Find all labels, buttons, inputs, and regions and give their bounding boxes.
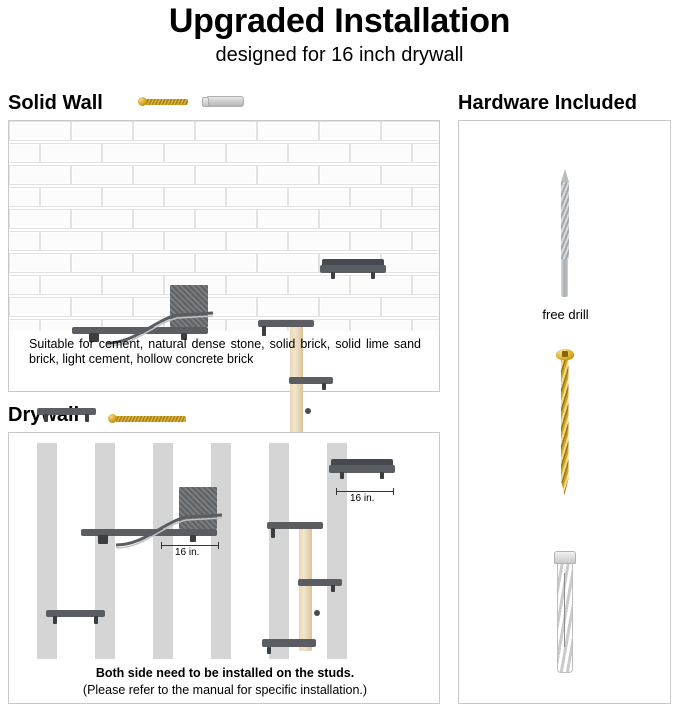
shelf-bracket <box>85 414 89 422</box>
anchor-slit <box>564 573 566 647</box>
brick <box>226 275 288 295</box>
shelf-bracket <box>331 272 335 279</box>
shelf-bracket <box>53 616 57 624</box>
brick <box>164 231 226 251</box>
brick <box>133 209 195 229</box>
brick <box>9 143 40 163</box>
brick <box>350 187 412 207</box>
drywall-caption: Both side need to be installed on the st… <box>23 665 427 699</box>
wood-screw-icon <box>556 349 574 505</box>
brick <box>71 121 133 141</box>
page-subtitle: designed for 16 inch drywall <box>0 44 679 67</box>
cat-ramp <box>114 513 224 549</box>
brick <box>257 165 319 185</box>
brick <box>71 209 133 229</box>
brick <box>412 319 439 331</box>
brick <box>288 231 350 251</box>
wall-stud <box>269 443 289 659</box>
brick <box>319 297 381 317</box>
brick <box>9 275 40 295</box>
brick <box>257 121 319 141</box>
brick <box>350 143 412 163</box>
measure-line <box>161 545 219 546</box>
screw-drive-slot <box>562 351 568 357</box>
brick <box>195 209 257 229</box>
measure-label: 16 in. <box>350 493 374 504</box>
page-title: Upgraded Installation <box>0 2 679 41</box>
wall-shelf <box>320 265 386 273</box>
brick <box>412 187 439 207</box>
wall-stud <box>327 443 347 659</box>
wall-stud <box>211 443 231 659</box>
drill-tip <box>561 169 569 182</box>
measure-label: 16 in. <box>175 547 199 558</box>
brick <box>40 143 102 163</box>
brick <box>102 187 164 207</box>
wall-step <box>262 639 316 647</box>
brick <box>381 121 439 141</box>
brick <box>381 253 439 273</box>
wall-step <box>298 579 342 586</box>
brick <box>9 231 40 251</box>
anchor-cap <box>202 97 209 107</box>
shelf-bracket <box>94 616 98 624</box>
brick-wall-illustration <box>9 121 439 331</box>
brick <box>71 253 133 273</box>
wall-anchor-icon <box>554 551 576 673</box>
drywall-caption-line1: Both side need to be installed on the st… <box>23 665 427 682</box>
brick-row <box>9 121 439 143</box>
shelf-bracket <box>271 528 275 538</box>
brick <box>9 319 40 331</box>
drill-bit-icon <box>558 169 572 297</box>
drywall-caption-line2: (Please refer to the manual for specific… <box>23 682 427 699</box>
screw-head <box>138 97 147 106</box>
shelf-bracket <box>322 383 326 390</box>
brick <box>257 297 319 317</box>
brick <box>319 121 381 141</box>
brick <box>288 143 350 163</box>
shelf-bracket <box>340 472 344 479</box>
brick <box>9 209 71 229</box>
brick <box>412 275 439 295</box>
brick <box>412 231 439 251</box>
screw-shaft <box>146 99 188 105</box>
shelf-bracket <box>44 414 48 422</box>
shelf-bracket <box>371 272 375 279</box>
anchor-cap <box>554 551 576 564</box>
brick <box>319 209 381 229</box>
free-drill-label: free drill <box>459 307 672 322</box>
brick <box>350 319 412 331</box>
brick <box>40 187 102 207</box>
brick-row <box>9 143 439 165</box>
brick <box>257 253 319 273</box>
drill-shank <box>561 258 568 297</box>
post-knob <box>314 610 320 616</box>
brick <box>195 165 257 185</box>
brick <box>195 121 257 141</box>
brick <box>102 275 164 295</box>
shelf-bracket <box>262 326 266 336</box>
brick <box>226 231 288 251</box>
shelf-bracket <box>267 647 271 654</box>
brick <box>226 143 288 163</box>
wall-stud <box>95 443 115 659</box>
brick <box>257 209 319 229</box>
solid-wall-heading: Solid Wall <box>8 92 103 115</box>
brick <box>164 143 226 163</box>
brick <box>164 187 226 207</box>
screw-icon <box>138 97 188 106</box>
wall-shelf <box>329 465 395 473</box>
post-knob <box>305 408 311 414</box>
brick <box>350 275 412 295</box>
shelf-bracket <box>98 535 108 544</box>
brick <box>9 297 71 317</box>
brick <box>71 165 133 185</box>
brick-row <box>9 187 439 209</box>
measure-line <box>336 491 394 492</box>
brick <box>226 187 288 207</box>
screw-thread <box>561 359 569 495</box>
brick <box>40 231 102 251</box>
brick <box>9 121 71 141</box>
solid-wall-caption: Suitable for cement, natural dense stone… <box>29 337 421 367</box>
brick-row <box>9 165 439 187</box>
brick <box>102 231 164 251</box>
wall-step <box>289 377 333 384</box>
brick <box>288 187 350 207</box>
brick-row <box>9 297 439 319</box>
drill-flute <box>561 181 569 259</box>
brick <box>288 275 350 295</box>
anchor-body <box>207 96 244 107</box>
scratching-post <box>299 523 312 651</box>
screw-shaft <box>116 416 186 422</box>
brick <box>412 143 439 163</box>
brick <box>381 209 439 229</box>
wall-anchor-icon <box>202 96 244 107</box>
brick <box>350 231 412 251</box>
brick <box>381 165 439 185</box>
wall-shelf <box>267 522 323 529</box>
screw-head <box>108 414 117 423</box>
brick <box>133 253 195 273</box>
brick <box>40 275 102 295</box>
drywall-panel: 16 in. 16 in. Both side need to be insta… <box>8 432 440 704</box>
hardware-included-heading: Hardware Included <box>458 92 637 115</box>
brick <box>9 187 40 207</box>
brick <box>133 121 195 141</box>
brick-row <box>9 209 439 231</box>
brick <box>195 253 257 273</box>
hardware-panel: free drill <box>458 120 671 704</box>
brick-row <box>9 231 439 253</box>
shelf-bracket <box>331 585 335 592</box>
wall-stud <box>37 443 57 659</box>
brick <box>133 165 195 185</box>
brick <box>9 253 71 273</box>
brick <box>9 165 71 185</box>
shelf-bracket <box>380 472 384 479</box>
wall-shelf <box>258 320 314 327</box>
brick <box>319 165 381 185</box>
screw-icon <box>108 414 186 423</box>
brick <box>102 143 164 163</box>
wall-stud <box>153 443 173 659</box>
solid-wall-panel: Suitable for cement, natural dense stone… <box>8 120 440 392</box>
brick <box>381 297 439 317</box>
